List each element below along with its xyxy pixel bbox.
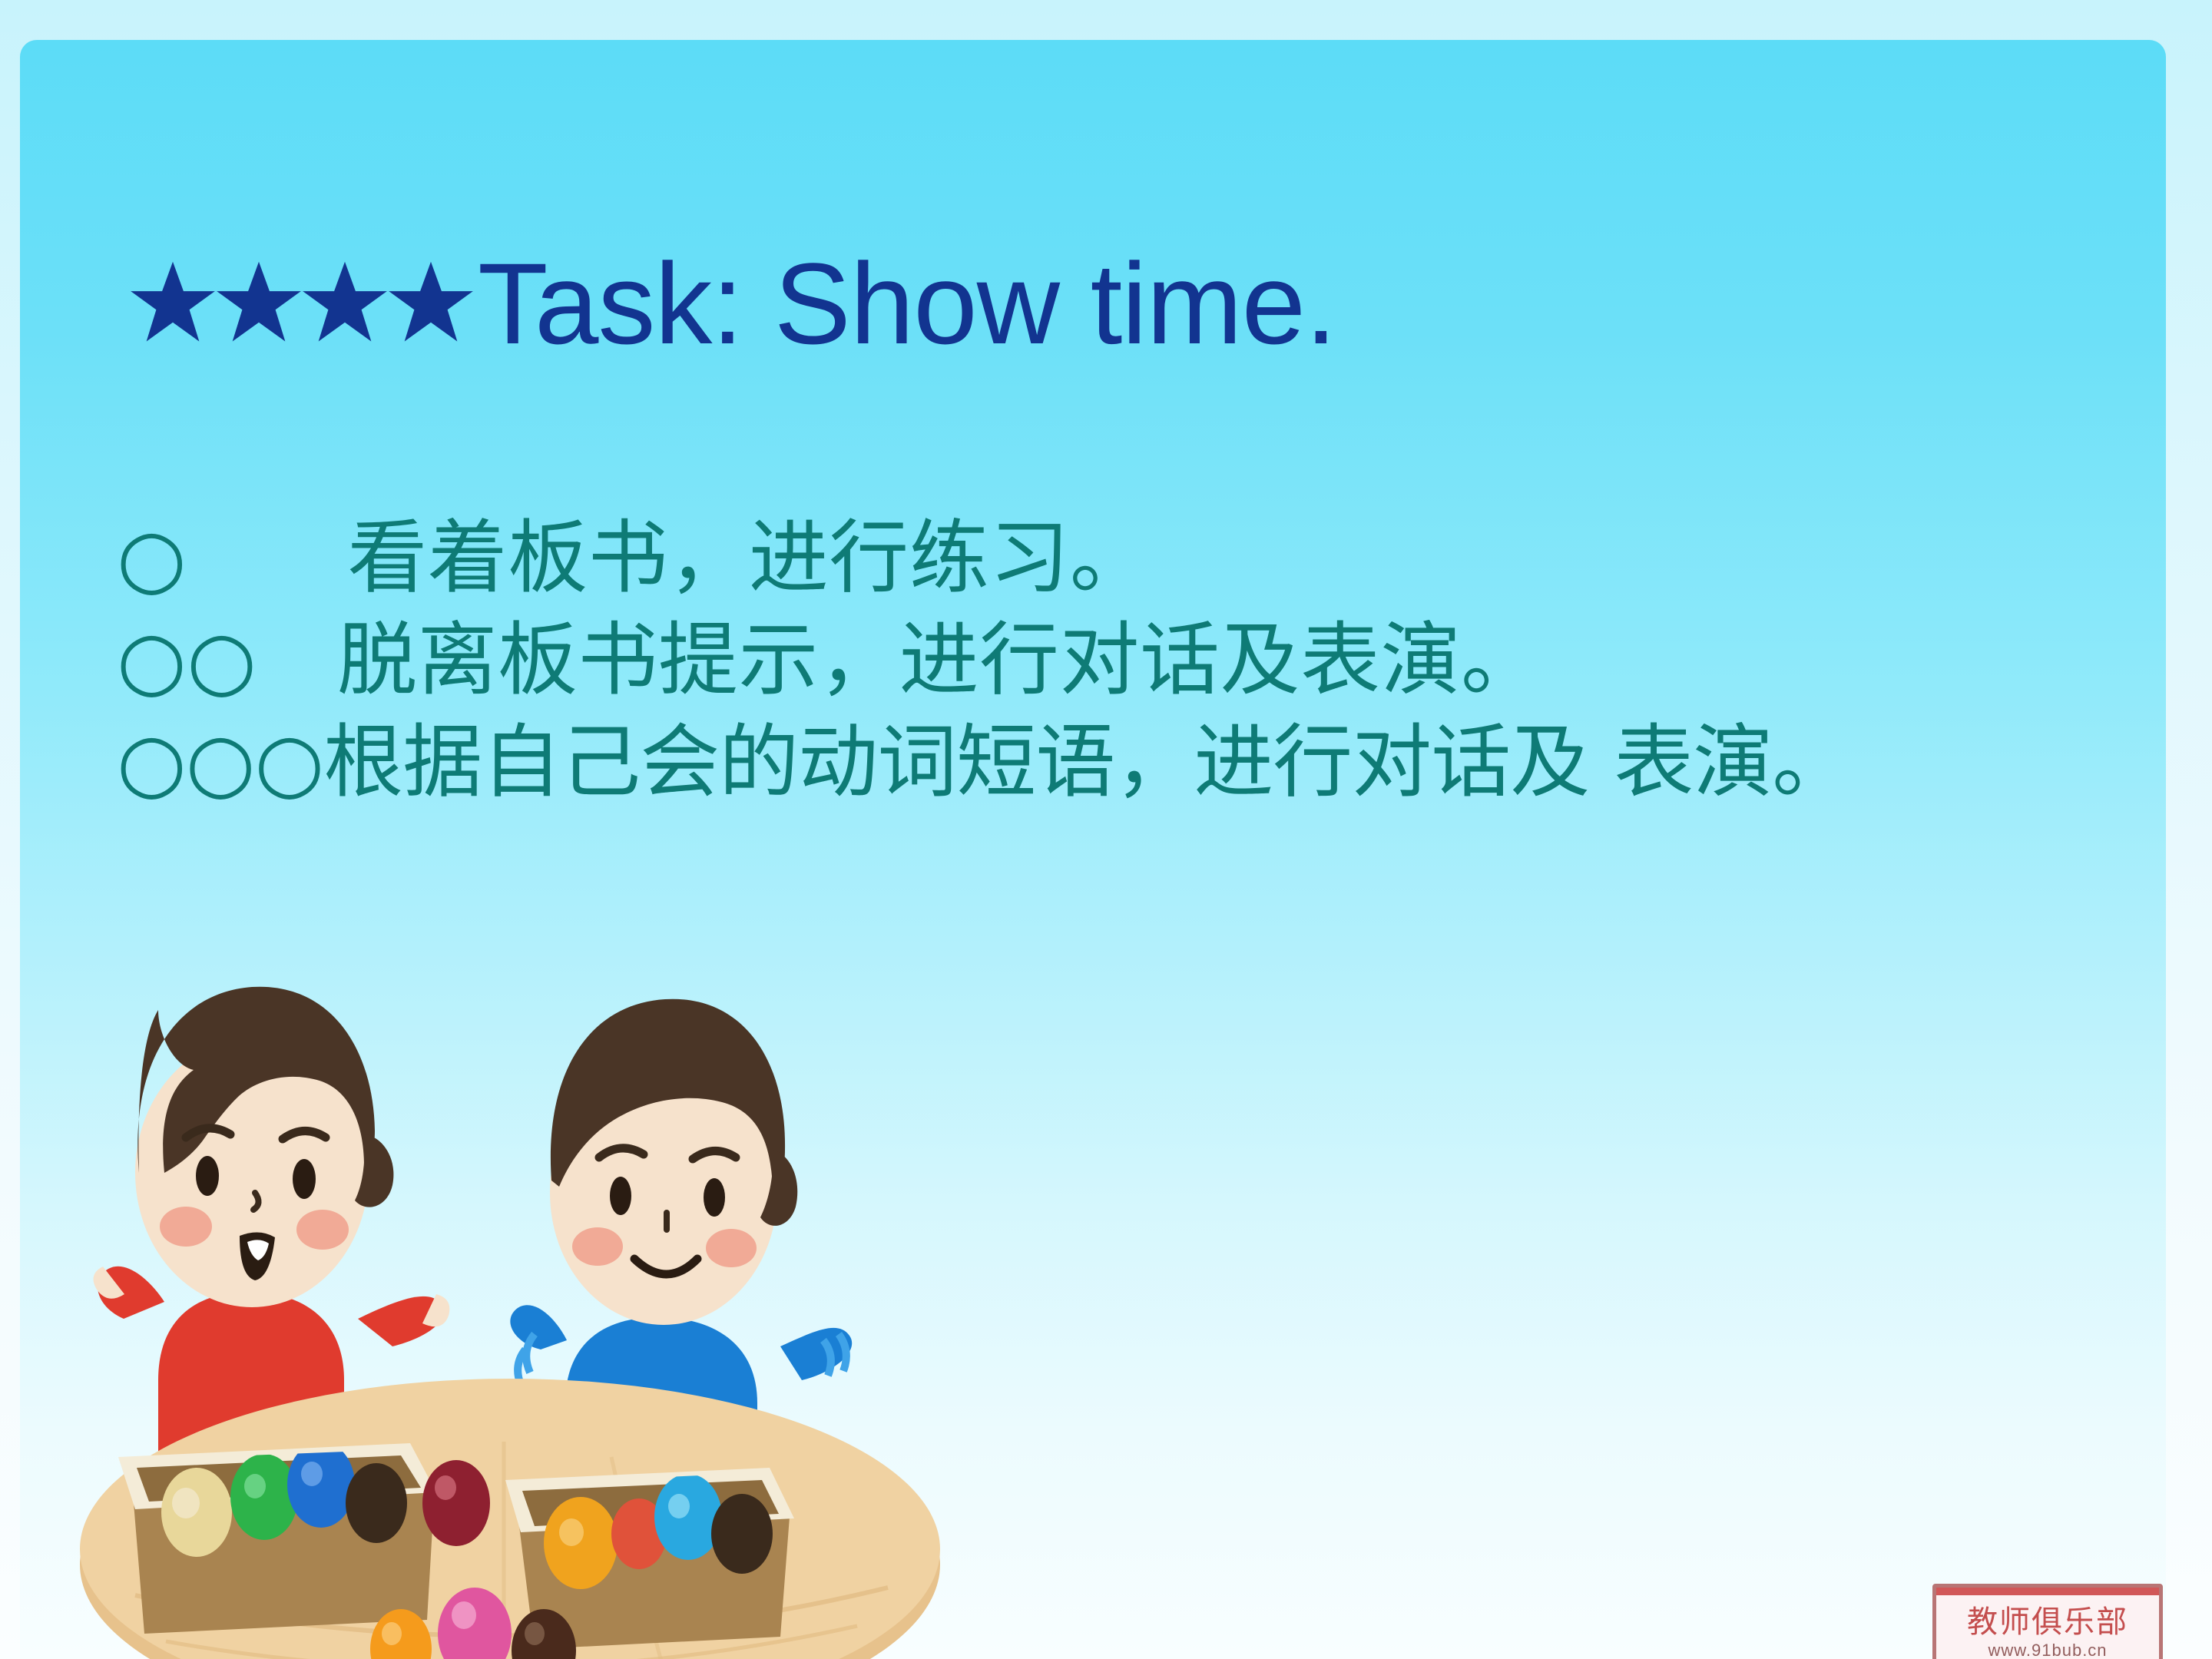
star-icon [127, 258, 218, 349]
title-label: Task: Show time. [478, 246, 1336, 361]
illustration-two-children-at-table [43, 919, 980, 1659]
slide-panel: Task: Show time. ○ 看着板书，进行练习。 ○○ 脱离板书提示，… [20, 40, 2166, 1659]
list-item: ○ 看着板书，进行练习。 [117, 507, 2160, 609]
list-item: ○○ 脱离板书提示，进行对话及表演。 [117, 609, 2160, 711]
star-icon [214, 258, 304, 349]
watermark-url: www.91bub.cn [1988, 1642, 2107, 1659]
watermark-title: 教师俱乐部 [1967, 1607, 2128, 1637]
bullet-list: ○ 看着板书，进行练习。 ○○ 脱离板书提示，进行对话及表演。 ○○○根据自己会… [117, 507, 2160, 813]
star-icon [300, 258, 390, 349]
watermark-logo: 教师俱乐部 www.91bub.cn [1932, 1584, 2163, 1659]
watermark-top-bar [1936, 1588, 2159, 1595]
star-icon [386, 258, 476, 349]
list-item: ○○○根据自己会的动词短语，进行对话及 表演。 [117, 711, 2160, 813]
page-title: Task: Show time. [127, 246, 1336, 361]
